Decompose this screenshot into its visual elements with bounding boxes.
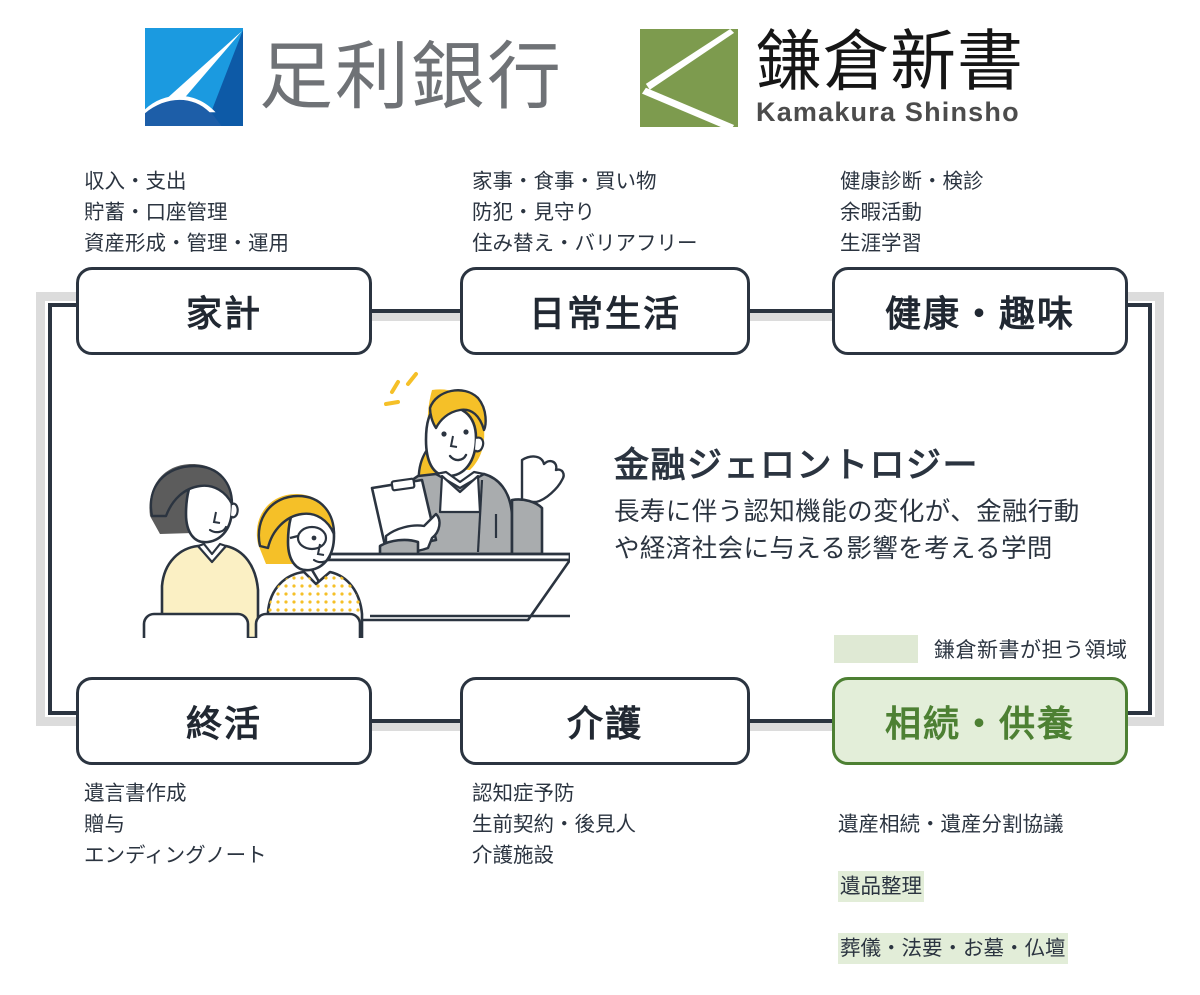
kamakura-wordmark-en: Kamakura Shinsho [756,97,1024,128]
consultation-scene-illustration [140,368,570,638]
top-link-2 [748,309,844,313]
center-description: 長寿に伴う認知機能の変化が、金融行動 や経済社会に与える影響を考える学問 [614,494,1080,568]
center-text-block: 金融ジェロントロジー 長寿に伴う認知機能の変化が、金融行動 や経済社会に与える影… [614,444,1080,568]
node-souzoku-kuyo-label: 相続・供養 [885,695,1075,747]
left-bracket-vertical [48,303,52,715]
caption-daily-life: 家事・食事・買い物 防犯・見守り 住み替え・バリアフリー [472,166,698,259]
node-kakei[interactable]: 家計 [76,267,372,355]
node-kaigo-label: 介護 [567,695,643,747]
ashikaga-bank-wordmark: 足利銀行 [259,40,563,114]
center-description-line-2: や経済社会に与える影響を考える学問 [614,531,1080,568]
node-nichijo-seikatsu-label: 日常生活 [529,285,681,337]
center-title: 金融ジェロントロジー [614,444,1080,488]
caption-shukatsu: 遺言書作成 贈与 エンディングノート [84,778,267,871]
node-kenko-shumi-label: 健康・趣味 [885,285,1075,337]
legend: 鎌倉新書が担う領域 [834,634,1128,664]
caption-souzoku: 遺産相続・遺産分割協議 遺品整理 葬儀・法要・お墓・仏壇 [838,778,1068,995]
diagram-canvas: 足利銀行 鎌倉新書 Kamakura Shinsho [0,0,1200,908]
legend-swatch [834,635,918,663]
top-link-1 [368,309,472,313]
kamakura-wordmark-jp: 鎌倉新書 [756,28,1024,95]
right-bracket-shadow-vertical [1155,292,1164,726]
sparkle-icon [386,374,416,404]
bottom-link-2 [748,719,844,723]
kamakura-shinsho-logo: 鎌倉新書 Kamakura Shinsho [640,28,1024,128]
top-link-1-shadow [368,312,472,321]
node-kakei-label: 家計 [186,285,262,337]
bottom-link-1 [368,719,472,723]
ashikaga-bank-mark [145,28,243,126]
caption-household: 収入・支出 貯蓄・口座管理 資産形成・管理・運用 [84,166,289,259]
left-bracket-shadow-vertical [36,292,45,726]
ashikaga-bank-logo: 足利銀行 [145,28,563,126]
center-description-line-1: 長寿に伴う認知機能の変化が、金融行動 [614,494,1080,531]
node-kenko-shumi[interactable]: 健康・趣味 [832,267,1128,355]
node-nichijo-seikatsu[interactable]: 日常生活 [460,267,750,355]
bottom-link-1-shadow [368,722,472,731]
logo-row: 足利銀行 鎌倉新書 Kamakura Shinsho [0,0,1200,155]
caption-souzoku-line-1: 遺産相続・遺産分割協議 [838,809,1068,840]
top-link-2-shadow [748,312,844,321]
caption-souzoku-line-2: 遺品整理 [838,871,924,902]
node-shukatsu[interactable]: 終活 [76,677,372,765]
node-shukatsu-label: 終活 [186,695,262,747]
legend-label: 鎌倉新書が担う領域 [934,634,1128,664]
right-bracket-vertical [1148,303,1152,715]
bottom-link-2-shadow [748,722,844,731]
caption-kaigo: 認知症予防 生前契約・後見人 介護施設 [472,778,636,871]
node-souzoku-kuyo[interactable]: 相続・供養 [832,677,1128,765]
caption-health-hobby: 健康診断・検診 余暇活動 生涯学習 [840,166,984,259]
kamakura-shinsho-wordmark: 鎌倉新書 Kamakura Shinsho [756,28,1024,128]
ashikaga-wordmark-text: 足利銀行 [259,40,563,114]
node-kaigo[interactable]: 介護 [460,677,750,765]
caption-souzoku-line-3: 葬儀・法要・お墓・仏壇 [838,933,1068,964]
kamakura-shinsho-mark [640,29,738,127]
